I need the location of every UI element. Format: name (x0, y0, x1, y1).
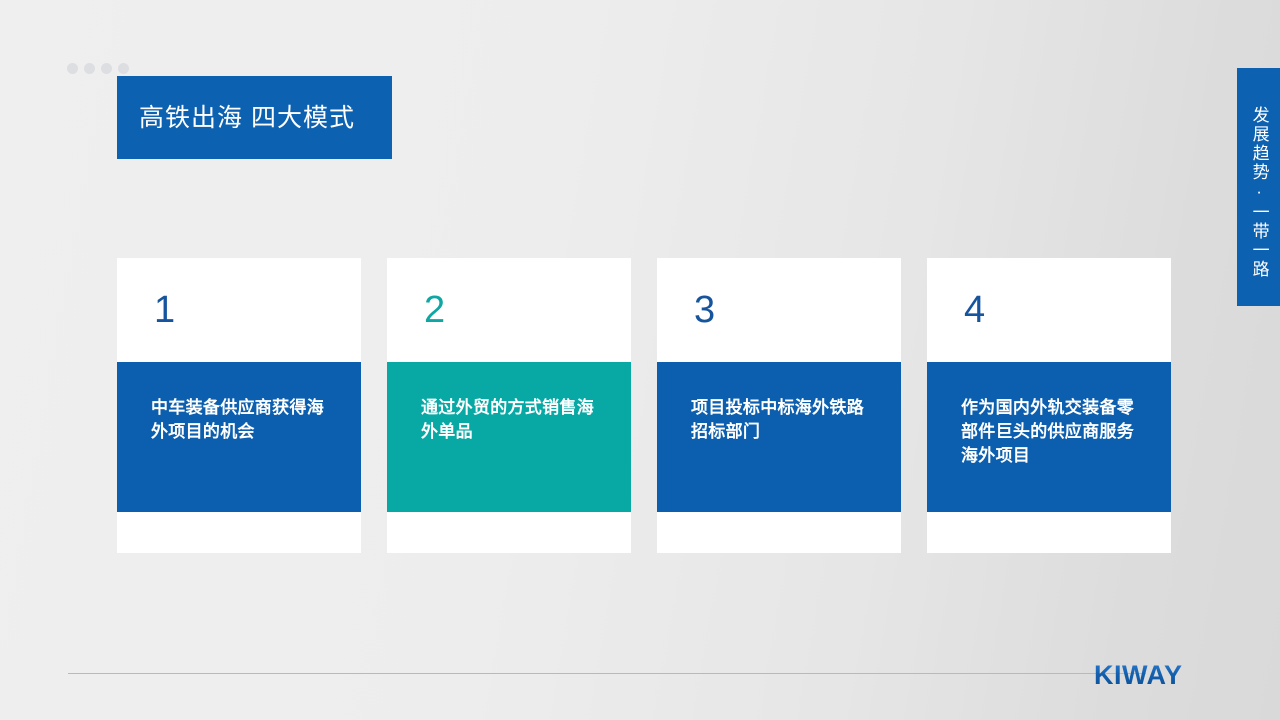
card-number: 1 (154, 291, 175, 329)
mode-cards-row: 1 中车装备供应商获得海外项目的机会 2 通过外贸的方式销售海外单品 3 项目投… (117, 258, 1172, 553)
dot-icon (118, 63, 129, 74)
card-description: 中车装备供应商获得海外项目的机会 (151, 398, 324, 441)
card-body: 项目投标中标海外铁路招标部门 (657, 362, 901, 512)
card-number: 2 (424, 291, 445, 329)
card-footer-strip (927, 512, 1171, 553)
card-footer-strip (117, 512, 361, 553)
card-footer-strip (387, 512, 631, 553)
card-number-zone: 1 (117, 258, 361, 362)
card-number-zone: 3 (657, 258, 901, 362)
section-tab-label: 发展趋势·一带一路 (1246, 106, 1270, 279)
card-body: 中车装备供应商获得海外项目的机会 (117, 362, 361, 512)
card-footer-strip (657, 512, 901, 553)
section-tab[interactable]: 发展趋势·一带一路 (1237, 68, 1280, 306)
page-title: 高铁出海 四大模式 (139, 103, 355, 133)
card-number-zone: 2 (387, 258, 631, 362)
footer-divider (68, 673, 1146, 674)
brand-logo: KIWAY (1094, 660, 1183, 691)
dot-icon (84, 63, 95, 74)
card-body: 通过外贸的方式销售海外单品 (387, 362, 631, 512)
card-description: 项目投标中标海外铁路招标部门 (691, 398, 864, 441)
card-body: 作为国内外轨交装备零部件巨头的供应商服务海外项目 (927, 362, 1171, 512)
card-number: 4 (964, 291, 985, 329)
slide-canvas: 高铁出海 四大模式 1 中车装备供应商获得海外项目的机会 2 通过外贸的方式销售… (0, 0, 1280, 720)
mode-card-1[interactable]: 1 中车装备供应商获得海外项目的机会 (117, 258, 361, 553)
card-number: 3 (694, 291, 715, 329)
mode-card-3[interactable]: 3 项目投标中标海外铁路招标部门 (657, 258, 901, 553)
mode-card-2[interactable]: 2 通过外贸的方式销售海外单品 (387, 258, 631, 553)
dot-icon (101, 63, 112, 74)
card-number-zone: 4 (927, 258, 1171, 362)
card-description: 通过外贸的方式销售海外单品 (421, 398, 594, 441)
dot-icon (67, 63, 78, 74)
card-description: 作为国内外轨交装备零部件巨头的供应商服务海外项目 (961, 398, 1134, 465)
decorative-dots (67, 63, 129, 74)
mode-card-4[interactable]: 4 作为国内外轨交装备零部件巨头的供应商服务海外项目 (927, 258, 1171, 553)
title-banner: 高铁出海 四大模式 (117, 76, 392, 159)
